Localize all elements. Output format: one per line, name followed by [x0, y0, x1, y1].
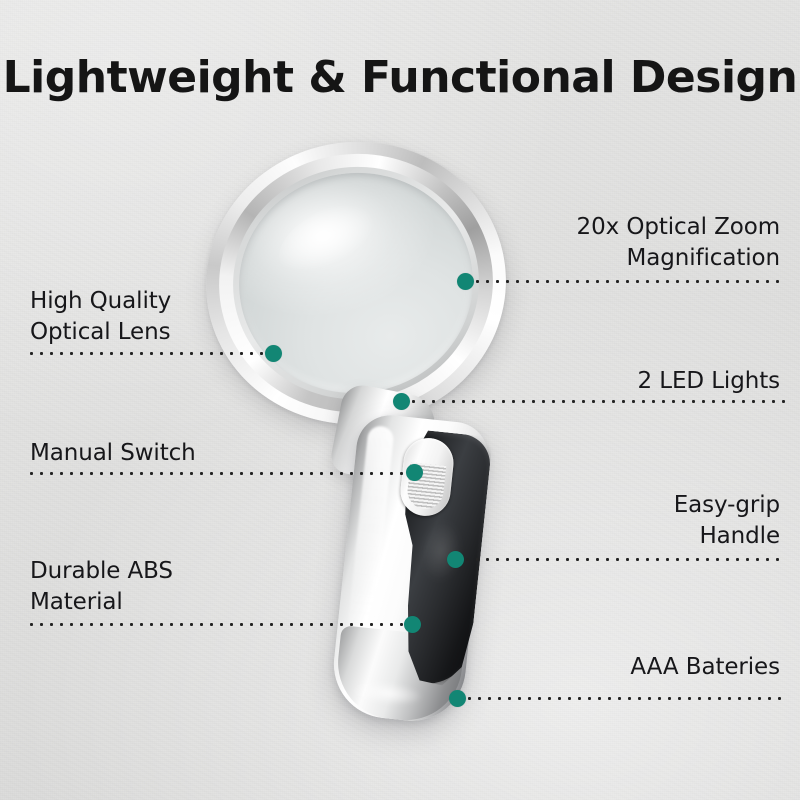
leader-line-optical-lens [30, 352, 276, 355]
callout-manual-switch-label: Manual Switch [30, 438, 330, 469]
grip-sheen [410, 505, 473, 596]
battery-cap [333, 625, 466, 725]
callout-manual-switch: Manual Switch [30, 438, 330, 469]
leader-line-optical-zoom [476, 280, 786, 283]
callout-optical-zoom-label: 20x Optical Zoom Magnification [520, 212, 780, 273]
page-title: Lightweight & Functional Design [0, 52, 800, 103]
leader-line-aaa-bateries [468, 697, 786, 700]
battery-cap-gloss [352, 679, 424, 708]
marker-dot-optical-lens [265, 345, 282, 362]
leader-line-durable-abs-material [30, 623, 410, 626]
callout-optical-lens-label: High Quality Optical Lens [30, 286, 310, 347]
callout-durable-abs-material: Durable ABS Material [30, 556, 330, 617]
lens-glass [226, 160, 485, 407]
marker-dot-manual-switch [406, 464, 423, 481]
callout-led-lights: 2 LED Lights [520, 366, 780, 397]
marker-dot-durable-abs-material [404, 616, 421, 633]
marker-dot-optical-zoom [457, 273, 474, 290]
magnifier-handle [329, 412, 492, 726]
callout-optical-zoom: 20x Optical Zoom Magnification [520, 212, 780, 273]
lens-inner-rim [220, 153, 492, 413]
marker-dot-easy-grip-handle [447, 551, 464, 568]
callout-led-lights-label: 2 LED Lights [520, 366, 780, 397]
callout-easy-grip-handle-label: Easy-grip Handle [520, 490, 780, 551]
callout-easy-grip-handle: Easy-grip Handle [520, 490, 780, 551]
callout-aaa-bateries-label: AAA Bateries [520, 652, 780, 683]
callout-optical-lens: High Quality Optical Lens [30, 286, 310, 347]
callout-durable-abs-material-label: Durable ABS Material [30, 556, 330, 617]
handle-highlight [344, 425, 394, 662]
leader-line-easy-grip-handle [466, 558, 786, 561]
infographic-canvas: Lightweight & Functional Design 20x Opti… [0, 0, 800, 800]
leader-line-led-lights [412, 400, 786, 403]
lens-glare-highlight [268, 184, 410, 294]
callout-aaa-bateries: AAA Bateries [520, 652, 780, 683]
leader-line-manual-switch [30, 472, 414, 475]
marker-dot-aaa-bateries [449, 690, 466, 707]
marker-dot-led-lights [393, 393, 410, 410]
